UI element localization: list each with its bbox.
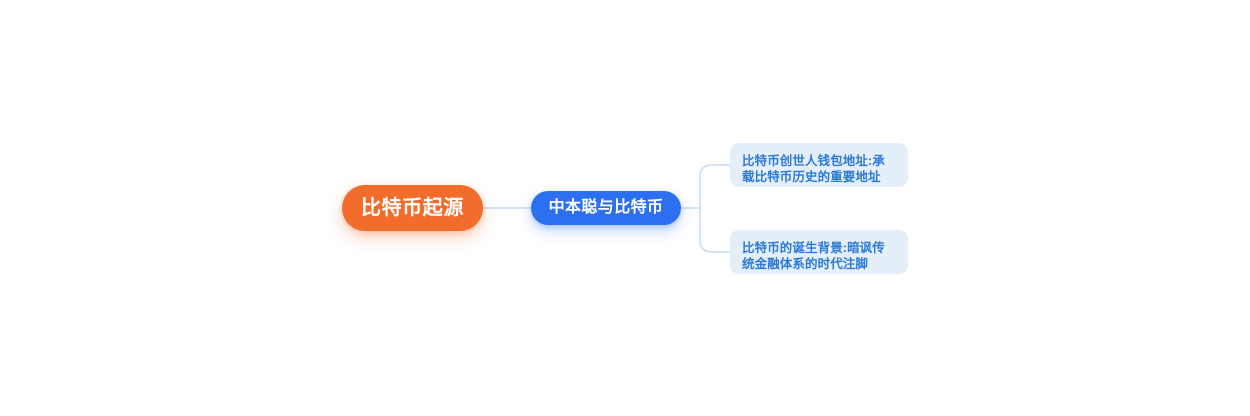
mindmap-leaf-node[interactable]: 比特币的诞生背景:暗讽传统金融体系的时代注脚 (730, 230, 908, 274)
mindmap-branch-label: 中本聪与比特币 (549, 200, 664, 216)
mindmap-leaf-label: 比特币创世人钱包地址:承载比特币历史的重要地址 (742, 153, 896, 185)
connector-branch-to-leaf-1 (700, 208, 730, 252)
mindmap-branch-node[interactable]: 中本聪与比特币 (531, 191, 681, 225)
mindmap-root-label: 比特币起源 (361, 198, 464, 218)
connector-branch-to-leaf-0 (700, 165, 730, 208)
mindmap-canvas: 比特币起源 中本聪与比特币 比特币创世人钱包地址:承载比特币历史的重要地址 比特… (0, 0, 1250, 416)
mindmap-root-node[interactable]: 比特币起源 (342, 185, 483, 231)
mindmap-leaf-label: 比特币的诞生背景:暗讽传统金融体系的时代注脚 (742, 240, 896, 272)
mindmap-leaf-node[interactable]: 比特币创世人钱包地址:承载比特币历史的重要地址 (730, 143, 908, 187)
